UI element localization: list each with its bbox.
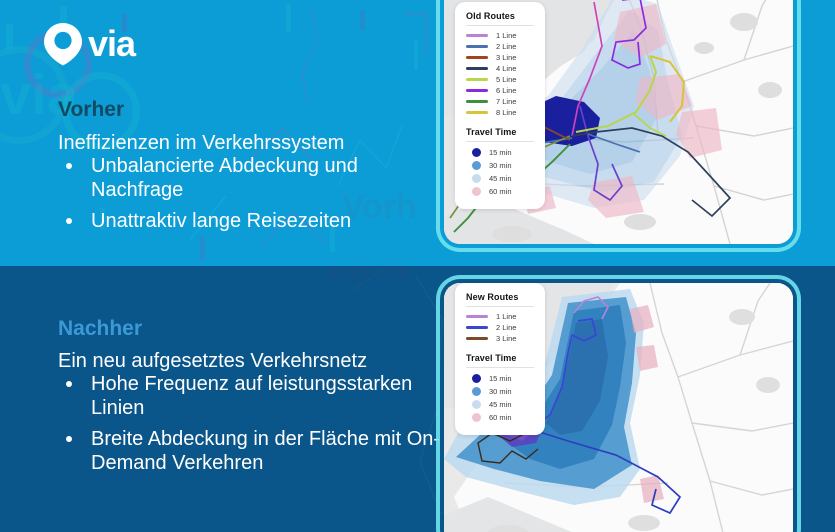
bullet-dot-icon [66,163,72,169]
legend-row: 8 Line [466,107,534,118]
travel-dot-icon [472,387,481,396]
bullet-dot-icon [66,381,72,387]
travel-dot-icon [472,148,481,157]
travel-dot-icon [472,374,481,383]
legend-row: 4 Line [466,63,534,74]
line-swatch-icon [466,56,488,59]
travel-dot-icon [472,400,481,409]
line-swatch-icon [466,315,488,318]
list-item: Hohe Frequenz auf leistungsstarken Linie… [58,372,441,421]
bullet-text: Unbalancierte Abdeckung und Nachfrage [91,155,358,201]
legend-row: 45 min [466,172,534,185]
after-lead: Ein neu aufgesetztes Verkehrsnetz [58,350,367,373]
list-item: Breite Abdeckung in der Fläche mit On-De… [58,427,441,476]
ghost-bar-8 [200,236,205,260]
legend-label: 30 min [489,387,512,396]
line-swatch-icon [466,78,488,81]
line-swatch-icon [466,326,488,329]
travel-dot-icon [472,187,481,196]
bullet-text: Unattraktiv lange Reisezeiten [91,210,351,232]
line-swatch-icon [466,34,488,37]
legend-title-routes: Old Routes [466,11,534,21]
before-lead: Ineffizienzen im Verkehrssystem [58,132,344,155]
legend-label: 15 min [489,148,512,157]
legend-row: 15 min [466,372,534,385]
ghost-text-ineff: Ineffizie [330,266,412,284]
via-logo: via [42,22,135,66]
travel-dot-icon [472,413,481,422]
legend-row: 60 min [466,185,534,198]
legend-row: 60 min [466,411,534,424]
legend-label: 45 min [489,174,512,183]
before-kicker: Vorher [58,99,124,120]
legend-title-routes: New Routes [466,292,534,302]
bullet-text: Breite Abdeckung in der Fläche mit On-De… [91,428,440,474]
legend-label: 30 min [489,161,512,170]
bullet-dot-icon [66,436,72,442]
legend-row: 6 Line [466,85,534,96]
legend-row: 2 Line [466,322,534,333]
legend-label: 1 Line [496,312,516,321]
line-swatch-icon [466,45,488,48]
line-swatch-icon [466,67,488,70]
legend-row: 3 Line [466,52,534,63]
before-map-legend: Old Routes 1 Line 2 Line 3 Line 4 Line 5… [455,2,545,209]
ghost-bar-4 [286,4,291,32]
legend-row: 7 Line [466,96,534,107]
travel-dot-icon [472,174,481,183]
via-wordmark: via [88,26,135,62]
bullet-text: Hohe Frequenz auf leistungsstarken Linie… [91,373,412,419]
legend-row: 45 min [466,398,534,411]
line-swatch-icon [466,111,488,114]
ghost-bar-1 [6,24,13,50]
legend-row: 5 Line [466,74,534,85]
legend-label: 2 Line [496,323,516,332]
via-pin-logo-icon [42,22,84,66]
after-kicker: Nachher [58,318,142,339]
legend-row: 30 min [466,159,534,172]
legend-label: 7 Line [496,97,516,106]
legend-label: 1 Line [496,31,516,40]
legend-label: 60 min [489,413,512,422]
legend-title-travel: Travel Time [466,127,534,137]
legend-label: 2 Line [496,42,516,51]
line-swatch-icon [466,89,488,92]
legend-label: 3 Line [496,53,516,62]
legend-label: 3 Line [496,334,516,343]
slide-canvas: via Vorh via Vorher Ineffizienzen im Ver… [0,0,835,532]
legend-row: 30 min [466,385,534,398]
list-item: Unattraktiv lange Reisezeiten [58,209,441,233]
bullet-dot-icon [66,218,72,224]
list-item: Unbalancierte Abdeckung und Nachfrage [58,154,441,203]
legend-label: 4 Line [496,64,516,73]
legend-row: 2 Line [466,41,534,52]
legend-row: 1 Line [466,311,534,322]
legend-label: 60 min [489,187,512,196]
after-bullet-list: Hohe Frequenz auf leistungsstarken Linie… [58,372,441,482]
legend-label: 8 Line [496,108,516,117]
legend-title-travel: Travel Time [466,353,534,363]
legend-label: 45 min [489,400,512,409]
legend-row: 15 min [466,146,534,159]
after-map-legend: New Routes 1 Line 2 Line 3 Line Travel T… [455,283,545,435]
ghost-bar-6 [414,40,418,70]
legend-row: 1 Line [466,30,534,41]
legend-row: 3 Line [466,333,534,344]
before-bullet-list: Unbalancierte Abdeckung und Nachfrage Un… [58,154,441,239]
line-swatch-icon [466,100,488,103]
legend-divider [466,25,534,26]
legend-label: 5 Line [496,75,516,84]
travel-dot-icon [472,161,481,170]
legend-divider [466,306,534,307]
legend-label: 15 min [489,374,512,383]
line-swatch-icon [466,337,488,340]
legend-label: 6 Line [496,86,516,95]
legend-divider [466,141,534,142]
legend-divider [466,367,534,368]
ghost-bar-5 [360,10,365,30]
